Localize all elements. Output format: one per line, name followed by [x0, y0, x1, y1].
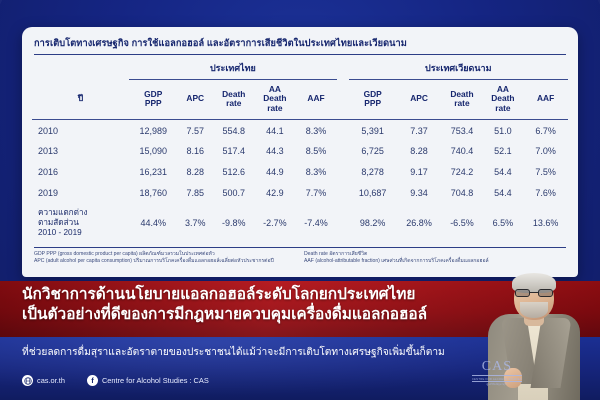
table-group-header-row: ประเทศไทย ประเทศเวียดนาม [32, 56, 568, 80]
cell-vn-death: 704.8 [441, 183, 482, 204]
col-header-gap [337, 80, 349, 120]
cell-th-aa-death: 44.3 [254, 141, 295, 162]
cell-vn-gdp: 8,278 [349, 162, 397, 183]
cell-vn-gdp: 10,687 [349, 183, 397, 204]
col-header-th-apc: APC [177, 80, 213, 120]
cell-vn-aa-death: 52.1 [483, 141, 524, 162]
cell-vn-apc: 9.17 [397, 162, 442, 183]
table-row: 2010 12,989 7.57 554.8 44.1 8.3% 5,391 7… [32, 120, 568, 141]
cell-vn-apc: 7.37 [397, 120, 442, 141]
col-header-th-gdp: GDPPPP [129, 80, 177, 120]
group-header-gap [337, 56, 349, 80]
group-header-vietnam: ประเทศเวียดนาม [349, 56, 568, 80]
cell-diff-vn-aaf: 13.6% [523, 203, 568, 243]
statistics-table: ประเทศไทย ประเทศเวียดนาม ปี GDPPPP APC D… [32, 56, 568, 243]
cell-th-gdp: 12,989 [129, 120, 177, 141]
col-header-th-aaf: AAF [295, 80, 336, 120]
cell-vn-death: 753.4 [441, 120, 482, 141]
col-header-vn-death: Deathrate [441, 80, 482, 120]
cell-th-death: 512.6 [213, 162, 254, 183]
cell-th-apc: 8.16 [177, 141, 213, 162]
cell-vn-apc: 8.28 [397, 141, 442, 162]
cell-th-gdp: 15,090 [129, 141, 177, 162]
cas-watermark-sub2: ศูนย์วิจัยปัญหาสุรา [472, 383, 522, 387]
cell-vn-aa-death: 54.4 [483, 183, 524, 204]
cell-th-death: 517.4 [213, 141, 254, 162]
cell-year: 2019 [32, 183, 129, 204]
cell-diff-th-aa-death: -2.7% [254, 203, 295, 243]
cell-vn-gdp: 5,391 [349, 120, 397, 141]
cell-th-death: 500.7 [213, 183, 254, 204]
facebook-icon: f [87, 375, 98, 386]
col-header-vn-aaf: AAF [523, 80, 568, 120]
cell-diff-th-apc: 3.7% [177, 203, 213, 243]
cas-watermark-title: CAS [472, 360, 522, 374]
col-header-th-aa-death: AADeathrate [254, 80, 295, 120]
cas-watermark-sub1: CENTRE FOR ALCOHOL STUDIES [472, 375, 522, 382]
cell-th-gdp: 18,760 [129, 183, 177, 204]
cell-vn-death: 724.2 [441, 162, 482, 183]
cell-th-aaf: 7.7% [295, 183, 336, 204]
cell-vn-death: 740.4 [441, 141, 482, 162]
cell-th-aaf: 8.3% [295, 120, 336, 141]
cell-th-aaf: 8.3% [295, 162, 336, 183]
cell-th-apc: 8.28 [177, 162, 213, 183]
speaker-beard [520, 302, 548, 318]
cell-diff-vn-aa-death: 6.5% [483, 203, 524, 243]
cell-gap [337, 162, 349, 183]
cell-vn-apc: 9.34 [397, 183, 442, 204]
table-row: 2013 15,090 8.16 517.4 44.3 8.5% 6,725 8… [32, 141, 568, 162]
cell-diff-vn-death: -6.5% [441, 203, 482, 243]
col-header-vn-gdp: GDPPPP [349, 80, 397, 120]
cell-vn-aa-death: 51.0 [483, 120, 524, 141]
footer-facebook-label: Centre for Alcohol Studies : CAS [102, 376, 209, 385]
cell-th-aa-death: 44.1 [254, 120, 295, 141]
cell-difference-label: ความแตกต่าง ตามสัดส่วน 2010 - 2019 [32, 203, 129, 243]
cell-gap [337, 203, 349, 243]
col-header-vn-apc: APC [397, 80, 442, 120]
cell-vn-aaf: 7.5% [523, 162, 568, 183]
cell-diff-vn-gdp: 98.2% [349, 203, 397, 243]
cell-gap [337, 183, 349, 204]
cell-diff-th-death: -9.8% [213, 203, 254, 243]
cell-vn-gdp: 6,725 [349, 141, 397, 162]
cell-vn-aaf: 6.7% [523, 120, 568, 141]
eyeglasses-icon [515, 289, 553, 297]
footnote-apc: APC (adult alcohol per capita consumptio… [34, 258, 296, 265]
footer-facebook[interactable]: f Centre for Alcohol Studies : CAS [87, 375, 209, 386]
cell-year: 2016 [32, 162, 129, 183]
col-header-year: ปี [32, 80, 129, 120]
cell-th-aaf: 8.5% [295, 141, 336, 162]
table-row: 2019 18,760 7.85 500.7 42.9 7.7% 10,687 … [32, 183, 568, 204]
card-title: การเติบโตทางเศรษฐกิจ การใช้แอลกอฮอล์ และ… [34, 36, 566, 55]
footnotes-right: Death rate อัตราการเสียชีวิต AAF (alcoho… [304, 251, 566, 266]
table-column-header-row: ปี GDPPPP APC Deathrate AADeathrate AAF … [32, 80, 568, 120]
footer-website[interactable]: cas.or.th [22, 375, 65, 386]
cell-gap [337, 141, 349, 162]
cell-vn-aaf: 7.6% [523, 183, 568, 204]
footer-website-label: cas.or.th [37, 376, 65, 385]
cell-diff-vn-apc: 26.8% [397, 203, 442, 243]
cell-year: 2010 [32, 120, 129, 141]
footnotes-left: GDP PPP (gross domestic product per capi… [34, 251, 296, 266]
table-row: 2016 16,231 8.28 512.6 44.9 8.3% 8,278 9… [32, 162, 568, 183]
group-header-thailand: ประเทศไทย [129, 56, 336, 80]
cell-th-apc: 7.57 [177, 120, 213, 141]
cell-year: 2013 [32, 141, 129, 162]
col-header-vn-aa-death: AADeathrate [483, 80, 524, 120]
cell-th-gdp: 16,231 [129, 162, 177, 183]
cell-vn-aaf: 7.0% [523, 141, 568, 162]
cas-watermark: CAS CENTRE FOR ALCOHOL STUDIES ศูนย์วิจั… [472, 360, 522, 387]
globe-icon [22, 375, 33, 386]
footnote-aaf: AAF (alcohol-attributable fraction) เศษส… [304, 258, 566, 265]
cell-th-aa-death: 44.9 [254, 162, 295, 183]
cell-vn-aa-death: 54.4 [483, 162, 524, 183]
col-header-th-death: Deathrate [213, 80, 254, 120]
footnotes: GDP PPP (gross domestic product per capi… [34, 247, 566, 266]
cell-th-death: 554.8 [213, 120, 254, 141]
cell-gap [337, 120, 349, 141]
cell-th-apc: 7.85 [177, 183, 213, 204]
footer-bar: cas.or.th f Centre for Alcohol Studies :… [22, 375, 209, 386]
cell-diff-th-gdp: 44.4% [129, 203, 177, 243]
group-header-spacer [32, 56, 129, 80]
data-card: การเติบโตทางเศรษฐกิจ การใช้แอลกอฮอล์ และ… [22, 27, 578, 277]
table-row-difference: ความแตกต่าง ตามสัดส่วน 2010 - 2019 44.4%… [32, 203, 568, 243]
cell-th-aa-death: 42.9 [254, 183, 295, 204]
cell-diff-th-aaf: -7.4% [295, 203, 336, 243]
